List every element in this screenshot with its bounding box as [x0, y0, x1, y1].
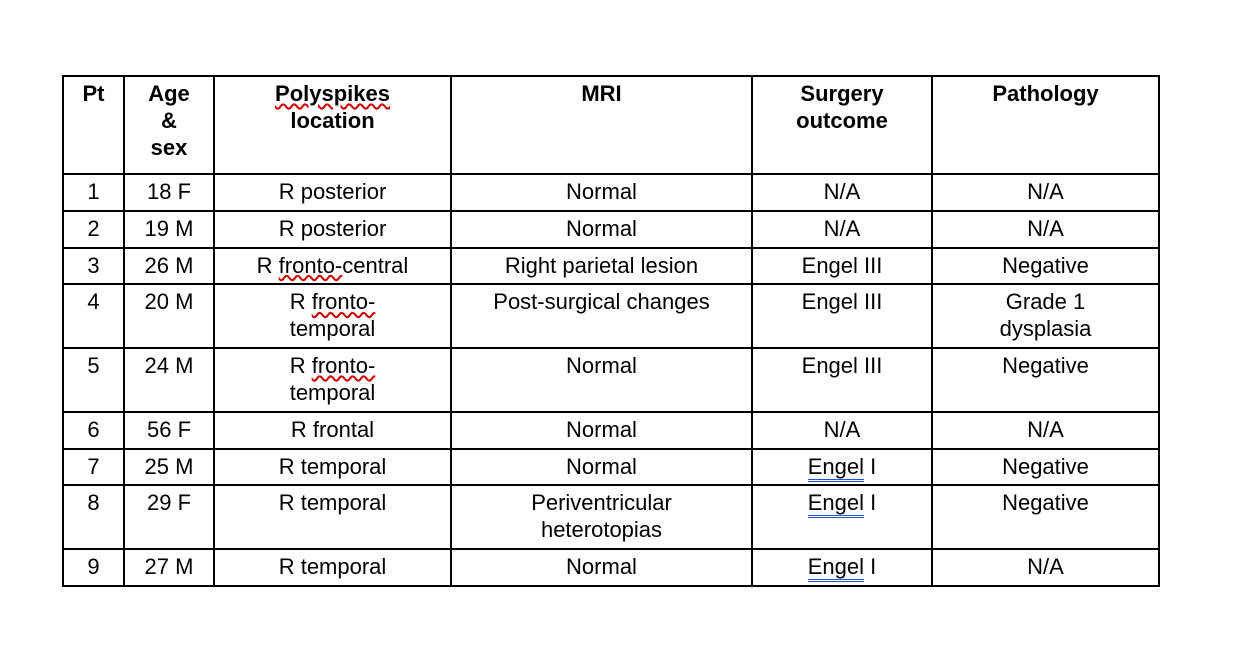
value-pathology: Negative: [1002, 490, 1089, 515]
cell-pathology: Negative: [932, 248, 1159, 285]
table-body: 1 18 F R posterior Normal N/A N/A 2 19 M…: [63, 174, 1159, 586]
value-mri: Normal: [566, 417, 637, 442]
cell-location: R fronto- temporal: [214, 348, 451, 412]
value-age-sex: 25 M: [145, 454, 194, 479]
value-mri: Right parietal lesion: [505, 253, 698, 278]
cell-location: R posterior: [214, 211, 451, 248]
value-surgery: Engel I: [808, 454, 877, 482]
value-pt: 8: [87, 490, 99, 515]
value-mri: Normal: [566, 179, 637, 204]
cell-surgery: Engel I: [752, 449, 932, 486]
value-surgery: Engel III: [802, 353, 883, 378]
cell-pt: 9: [63, 549, 124, 586]
column-header-surgery-outcome: Surgery outcome: [752, 76, 932, 174]
value-age-sex: 29 F: [147, 490, 191, 515]
column-header-polyspikes-location: Polyspikes location: [214, 76, 451, 174]
cell-pathology: Negative: [932, 348, 1159, 412]
value-surgery: N/A: [824, 179, 861, 204]
table-row: 3 26 M R fronto-central Right parietal l…: [63, 248, 1159, 285]
cell-surgery: Engel III: [752, 284, 932, 348]
cell-age-sex: 19 M: [124, 211, 214, 248]
value-location-suffix: central: [342, 253, 408, 278]
cell-pt: 5: [63, 348, 124, 412]
cell-age-sex: 24 M: [124, 348, 214, 412]
value-surgery: Engel I: [808, 490, 877, 518]
value-mri: Normal: [566, 216, 637, 241]
value-pathology-line1: Grade 1: [936, 289, 1155, 316]
value-age-sex: 24 M: [145, 353, 194, 378]
table-header: Pt Age & sex Polyspikes location MRI Sur…: [63, 76, 1159, 174]
value-location: R fronto-central: [257, 253, 409, 278]
value-mri-line1: Periventricular: [455, 490, 748, 517]
value-pathology: Negative: [1002, 454, 1089, 479]
cell-age-sex: 20 M: [124, 284, 214, 348]
cell-age-sex: 25 M: [124, 449, 214, 486]
cell-location: R temporal: [214, 485, 451, 549]
value-age-sex: 20 M: [145, 289, 194, 314]
cell-location: R fronto- temporal: [214, 284, 451, 348]
value-age-sex: 27 M: [145, 554, 194, 579]
value-pt: 7: [87, 454, 99, 479]
table-row: 4 20 M R fronto- temporal Post-surgical …: [63, 284, 1159, 348]
value-location-prefix: R: [290, 289, 312, 314]
cell-pt: 3: [63, 248, 124, 285]
patient-table: Pt Age & sex Polyspikes location MRI Sur…: [62, 75, 1160, 587]
cell-pathology: N/A: [932, 549, 1159, 586]
cell-pathology: N/A: [932, 412, 1159, 449]
value-pathology: Negative: [1002, 353, 1089, 378]
cell-pathology: Grade 1 dysplasia: [932, 284, 1159, 348]
column-header-pathology: Pathology: [932, 76, 1159, 174]
table-row: 5 24 M R fronto- temporal Normal Engel I…: [63, 348, 1159, 412]
value-mri-line2: heterotopias: [455, 517, 748, 544]
value-pt: 4: [87, 289, 99, 314]
value-location-misspelled: fronto-: [279, 253, 343, 278]
value-age-sex: 18 F: [147, 179, 191, 204]
value-surgery: Engel III: [802, 253, 883, 278]
value-location-line1: R fronto-: [218, 353, 447, 380]
value-location-prefix: R: [290, 353, 312, 378]
header-label-age: Age: [128, 81, 210, 108]
header-label-pathology: Pathology: [936, 81, 1155, 108]
cell-mri: Normal: [451, 549, 752, 586]
cell-pt: 8: [63, 485, 124, 549]
cell-age-sex: 27 M: [124, 549, 214, 586]
table-row: 8 29 F R temporal Periventricular hetero…: [63, 485, 1159, 549]
cell-surgery: N/A: [752, 412, 932, 449]
value-location-misspelled: fronto-: [312, 353, 376, 378]
value-location: R temporal: [279, 554, 387, 579]
cell-mri: Periventricular heterotopias: [451, 485, 752, 549]
value-mri: Normal: [566, 353, 637, 378]
value-surgery-suffix: I: [864, 490, 876, 515]
value-surgery: N/A: [824, 417, 861, 442]
cell-age-sex: 29 F: [124, 485, 214, 549]
header-label-outcome: outcome: [756, 108, 928, 135]
cell-pt: 4: [63, 284, 124, 348]
cell-age-sex: 56 F: [124, 412, 214, 449]
cell-surgery: Engel III: [752, 248, 932, 285]
cell-mri: Normal: [451, 449, 752, 486]
cell-location: R frontal: [214, 412, 451, 449]
value-location: R posterior: [279, 179, 387, 204]
cell-age-sex: 18 F: [124, 174, 214, 211]
value-location-line2: temporal: [218, 316, 447, 343]
cell-mri: Normal: [451, 174, 752, 211]
header-label-ampersand: &: [128, 108, 210, 135]
value-pt: 6: [87, 417, 99, 442]
cell-pathology: Negative: [932, 485, 1159, 549]
value-surgery: N/A: [824, 216, 861, 241]
value-location-misspelled: fronto-: [312, 289, 376, 314]
value-pathology: N/A: [1027, 179, 1064, 204]
value-location-line1: R fronto-: [218, 289, 447, 316]
table-row: 2 19 M R posterior Normal N/A N/A: [63, 211, 1159, 248]
value-surgery-suffix: I: [864, 554, 876, 579]
value-pathology: N/A: [1027, 554, 1064, 579]
value-pathology: N/A: [1027, 216, 1064, 241]
value-location: R temporal: [279, 454, 387, 479]
value-mri: Normal: [566, 554, 637, 579]
column-header-pt: Pt: [63, 76, 124, 174]
cell-location: R temporal: [214, 549, 451, 586]
cell-surgery: N/A: [752, 211, 932, 248]
value-surgery-grammar-flagged: Engel: [808, 554, 864, 582]
column-header-age-sex: Age & sex: [124, 76, 214, 174]
cell-pt: 2: [63, 211, 124, 248]
cell-pathology: N/A: [932, 174, 1159, 211]
value-mri: Post-surgical changes: [493, 289, 709, 314]
value-age-sex: 19 M: [145, 216, 194, 241]
value-pt: 9: [87, 554, 99, 579]
value-pt: 1: [87, 179, 99, 204]
value-pt: 3: [87, 253, 99, 278]
cell-location: R posterior: [214, 174, 451, 211]
header-label-mri: MRI: [455, 81, 748, 108]
cell-pt: 7: [63, 449, 124, 486]
value-mri: Normal: [566, 454, 637, 479]
value-surgery-grammar-flagged: Engel: [808, 454, 864, 482]
cell-mri: Post-surgical changes: [451, 284, 752, 348]
value-location-line2: temporal: [218, 380, 447, 407]
table-row: 7 25 M R temporal Normal Engel I Negativ…: [63, 449, 1159, 486]
value-location: R posterior: [279, 216, 387, 241]
value-pathology-line2: dysplasia: [936, 316, 1155, 343]
header-label-polyspikes: Polyspikes: [218, 81, 447, 108]
cell-pathology: N/A: [932, 211, 1159, 248]
cell-surgery: Engel I: [752, 549, 932, 586]
cell-location: R fronto-central: [214, 248, 451, 285]
value-age-sex: 26 M: [145, 253, 194, 278]
header-label-pt: Pt: [67, 81, 120, 108]
value-location: R frontal: [291, 417, 374, 442]
cell-surgery: Engel III: [752, 348, 932, 412]
patient-table-container: Pt Age & sex Polyspikes location MRI Sur…: [62, 75, 1158, 587]
table-row: 9 27 M R temporal Normal Engel I N/A: [63, 549, 1159, 586]
header-label-sex: sex: [128, 135, 210, 162]
cell-mri: Normal: [451, 412, 752, 449]
header-row: Pt Age & sex Polyspikes location MRI Sur…: [63, 76, 1159, 174]
value-location: R temporal: [279, 490, 387, 515]
table-row: 6 56 F R frontal Normal N/A N/A: [63, 412, 1159, 449]
cell-surgery: N/A: [752, 174, 932, 211]
cell-mri: Normal: [451, 348, 752, 412]
value-surgery-suffix: I: [864, 454, 876, 479]
value-surgery: Engel III: [802, 289, 883, 314]
cell-pathology: Negative: [932, 449, 1159, 486]
cell-pt: 6: [63, 412, 124, 449]
cell-mri: Right parietal lesion: [451, 248, 752, 285]
cell-age-sex: 26 M: [124, 248, 214, 285]
cell-mri: Normal: [451, 211, 752, 248]
table-row: 1 18 F R posterior Normal N/A N/A: [63, 174, 1159, 211]
cell-surgery: Engel I: [752, 485, 932, 549]
value-location-prefix: R: [257, 253, 279, 278]
value-pathology: N/A: [1027, 417, 1064, 442]
value-pt: 5: [87, 353, 99, 378]
value-surgery-grammar-flagged: Engel: [808, 490, 864, 518]
value-surgery: Engel I: [808, 554, 877, 582]
value-age-sex: 56 F: [147, 417, 191, 442]
value-pathology: Negative: [1002, 253, 1089, 278]
header-label-location: location: [218, 108, 447, 135]
cell-pt: 1: [63, 174, 124, 211]
cell-location: R temporal: [214, 449, 451, 486]
header-label-surgery: Surgery: [756, 81, 928, 108]
column-header-mri: MRI: [451, 76, 752, 174]
value-pt: 2: [87, 216, 99, 241]
